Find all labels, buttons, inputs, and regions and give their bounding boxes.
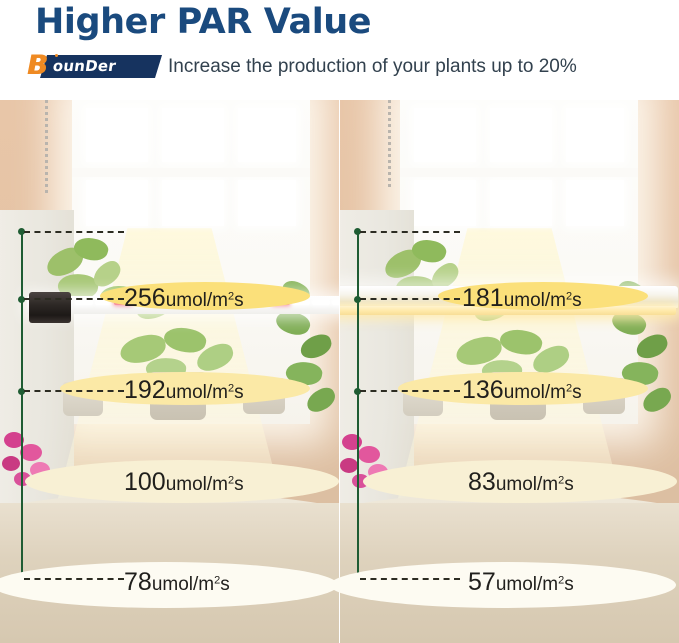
measure-dash <box>360 298 460 300</box>
logo-letter-b: B <box>27 53 48 79</box>
par-label-left-1: 256umol/m2s <box>124 284 244 313</box>
par-label-right-2: 136umol/m2s <box>462 376 582 405</box>
par-label-right-3: 83umol/m2s <box>468 468 574 497</box>
header: Higher PAR Value B ounDer Increase the p… <box>0 0 679 100</box>
header-subtitle: Increase the production of your plants u… <box>168 56 577 78</box>
measure-dash <box>360 390 460 392</box>
measurement-overlay: 256umol/m2s 192umol/m2s 100umol/m2s 78um… <box>0 100 679 643</box>
par-label-left-2: 192umol/m2s <box>124 376 244 405</box>
par-label-left-3: 100umol/m2s <box>124 468 244 497</box>
par-label-right-1: 181umol/m2s <box>462 284 582 313</box>
page-title: Higher PAR Value <box>35 2 371 42</box>
bounder-logo: B ounDer <box>27 54 155 79</box>
infographic-page: Higher PAR Value B ounDer Increase the p… <box>0 0 679 643</box>
brand-row: B ounDer Increase the production of your… <box>27 54 577 79</box>
measure-line-right <box>357 231 359 579</box>
measure-line-left <box>21 231 23 579</box>
measure-dash <box>360 578 460 580</box>
par-label-left-4: 78umol/m2s <box>124 568 230 597</box>
measure-dash <box>360 231 460 233</box>
logo-dot-icon <box>55 54 58 57</box>
logo-wordmark: ounDer <box>52 57 117 75</box>
measure-dash <box>24 298 124 300</box>
measure-dash <box>24 390 124 392</box>
comparison-photos: 256umol/m2s 192umol/m2s 100umol/m2s 78um… <box>0 100 679 643</box>
measure-dash <box>24 231 124 233</box>
measure-dash <box>24 578 124 580</box>
par-label-right-4: 57umol/m2s <box>468 568 574 597</box>
